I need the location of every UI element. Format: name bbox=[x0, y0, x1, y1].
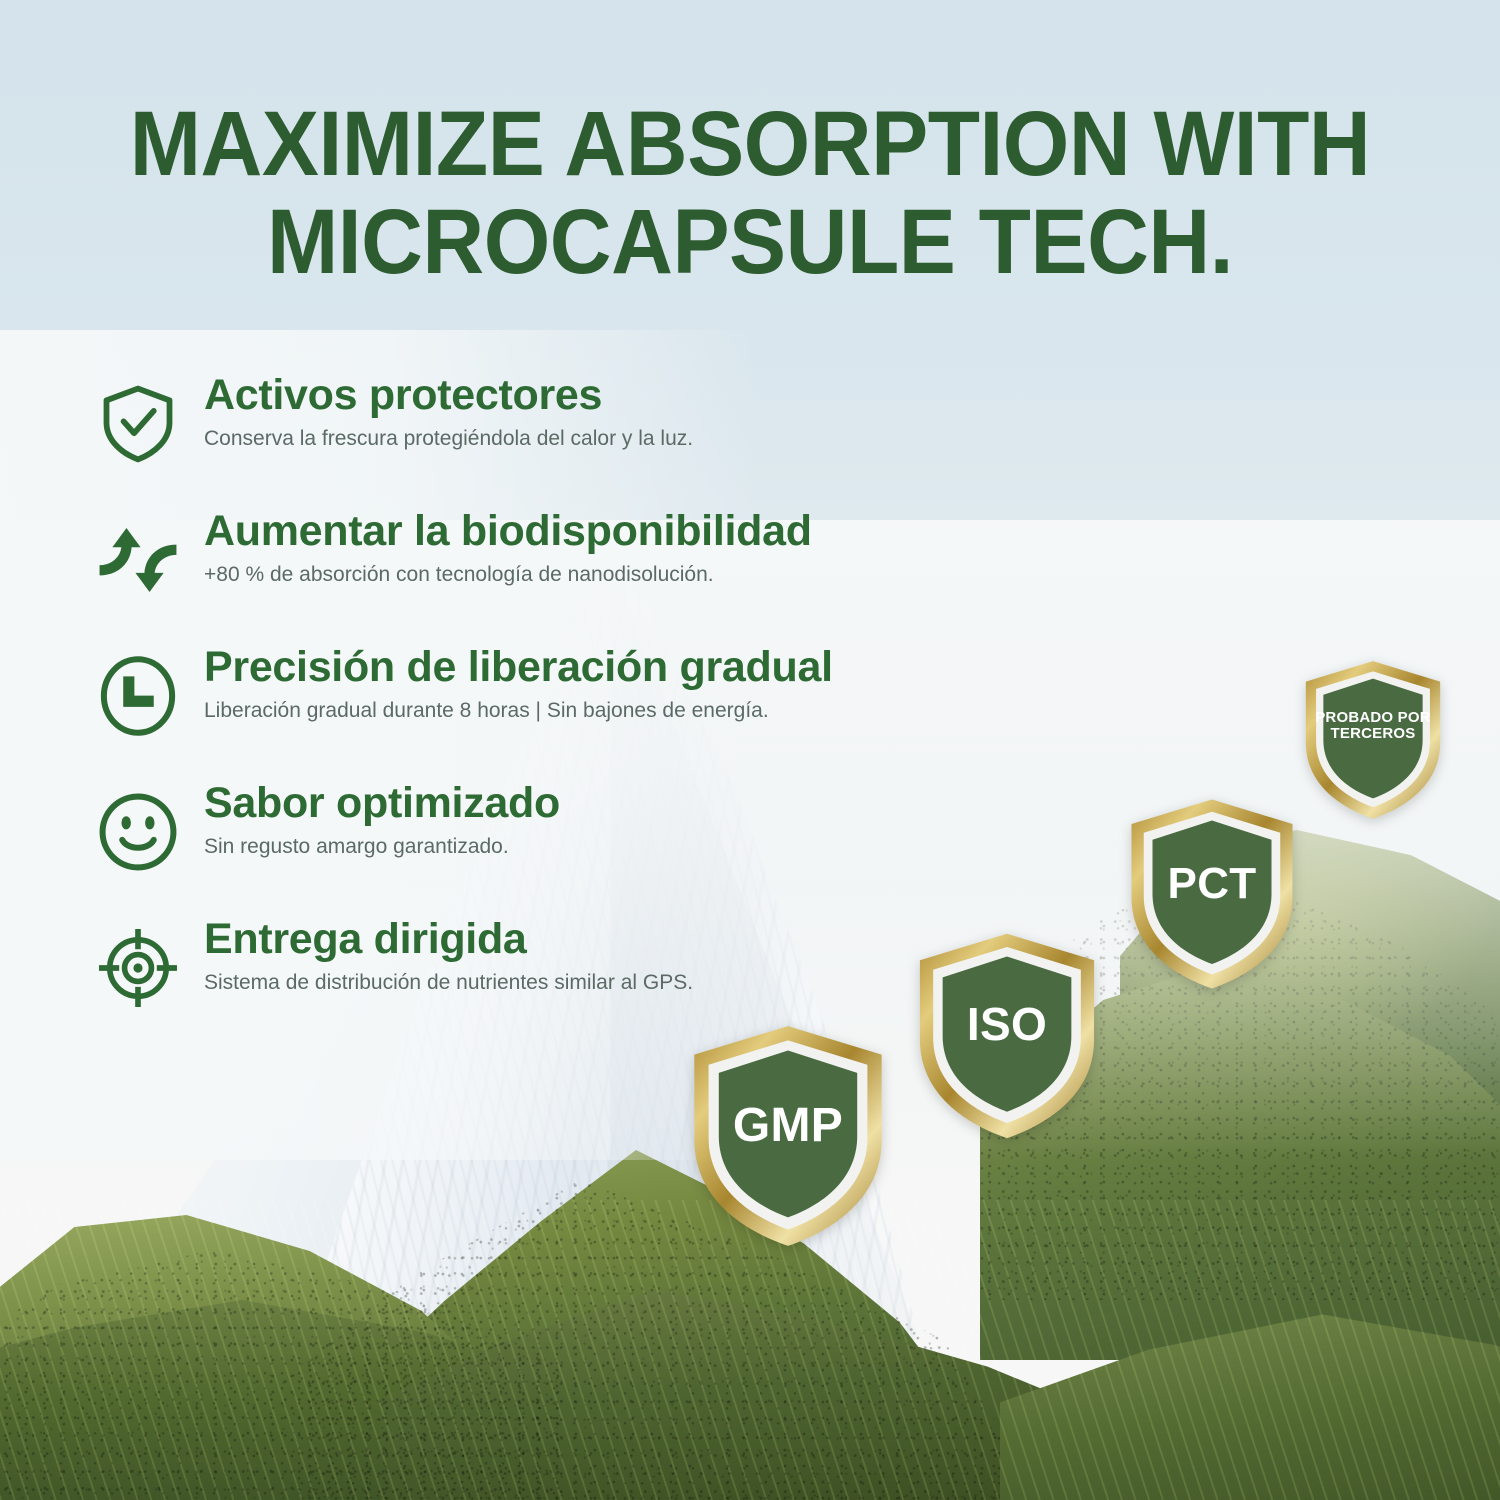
badge-iso: ISO bbox=[912, 930, 1102, 1142]
feature-title: Precisión de liberación gradual bbox=[204, 644, 1052, 690]
feature-item-bioavailability: Aumentar la biodisponibilidad +80 % de a… bbox=[92, 508, 1052, 644]
feature-title: Activos protectores bbox=[204, 372, 1052, 418]
feature-item-protective-actives: Activos protectores Conserva la frescura… bbox=[92, 372, 1052, 508]
badge-third-party-tested: PROBADO POR TERCEROS bbox=[1300, 658, 1446, 822]
clock-icon bbox=[92, 650, 184, 742]
headline-line-1: MAXIMIZE ABSORPTION WITH bbox=[130, 93, 1370, 195]
feature-title: Aumentar la biodisponibilidad bbox=[204, 508, 1052, 554]
shield-check-icon bbox=[92, 378, 184, 470]
marketing-infographic: MAXIMIZE ABSORPTION WITH MICROCAPSULE TE… bbox=[0, 0, 1500, 1500]
feature-description: +80 % de absorción con tecnología de nan… bbox=[204, 561, 1052, 589]
feature-item-sustained-release: Precisión de liberación gradual Liberaci… bbox=[92, 644, 1052, 780]
feature-description: Conserva la frescura protegiéndola del c… bbox=[204, 425, 1052, 453]
smiley-icon bbox=[92, 786, 184, 878]
badge-gmp: GMP bbox=[686, 1022, 890, 1250]
feature-list: Activos protectores Conserva la frescura… bbox=[92, 372, 1052, 1052]
crosshair-target-icon bbox=[92, 922, 184, 1014]
cycle-arrows-icon bbox=[92, 514, 184, 606]
feature-description: Sin regusto amargo garantizado. bbox=[204, 833, 1052, 861]
feature-description: Liberación gradual durante 8 horas | Sin… bbox=[204, 697, 1052, 725]
feature-title: Sabor optimizado bbox=[204, 780, 1052, 826]
badge-pct: PCT bbox=[1124, 796, 1300, 992]
feature-item-targeted-delivery: Entrega dirigida Sistema de distribución… bbox=[92, 916, 1052, 1052]
headline-line-2: MICROCAPSULE TECH. bbox=[53, 194, 1448, 292]
page-title: MAXIMIZE ABSORPTION WITH MICROCAPSULE TE… bbox=[53, 96, 1448, 291]
feature-item-optimized-taste: Sabor optimizado Sin regusto amargo gara… bbox=[92, 780, 1052, 916]
